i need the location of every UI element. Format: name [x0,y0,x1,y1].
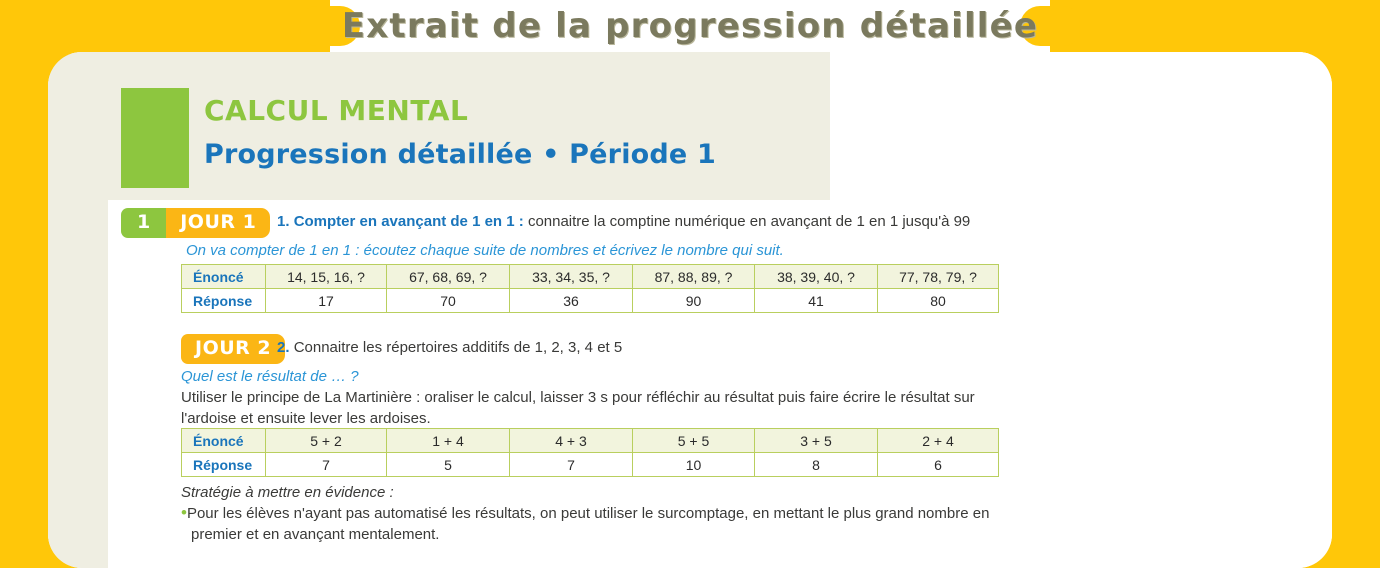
strategy-bullet-text: Pour les élèves n'ayant pas automatisé l… [187,505,989,543]
table-cell: 5 + 2 [266,429,387,453]
table-cell: 5 [387,453,510,477]
table-cell: 17 [266,289,387,313]
row-label-enonce: Énoncé [182,265,266,289]
lesson-1-table-wrap: Énoncé 14, 15, 16, ? 67, 68, 69, ? 33, 3… [181,264,999,313]
table-cell: 80 [878,289,999,313]
table-cell: 2 + 4 [878,429,999,453]
table-cell: 41 [755,289,878,313]
lesson-2-badges: JOUR 2 [181,334,285,364]
lesson-1-instruction: On va compter de 1 en 1 : écoutez chaque… [186,241,1186,261]
table-cell: 1 + 4 [387,429,510,453]
table-cell: 8 [755,453,878,477]
table-cell: 36 [510,289,633,313]
lesson-1-objective-number: 1. [277,213,290,230]
lesson-2-day-badge: JOUR 2 [181,334,285,364]
lesson-2-table-wrap: Énoncé 5 + 2 1 + 4 4 + 3 5 + 5 3 + 5 2 +… [181,428,999,477]
strategy-bullet-item: •Pour les élèves n'ayant pas automatisé … [181,502,993,545]
lesson-2-paragraph: Utiliser le principe de La Martinière : … [181,387,1013,429]
banner-title: Extrait de la progression détaillée [0,2,1380,50]
table-cell: 6 [878,453,999,477]
table-row: Réponse 7 5 7 10 8 6 [182,453,999,477]
lesson-1-table: Énoncé 14, 15, 16, ? 67, 68, 69, ? 33, 3… [181,264,999,313]
table-cell: 67, 68, 69, ? [387,265,510,289]
lesson-1-objective: 1. Compter en avançant de 1 en 1 : conna… [277,208,1237,233]
green-accent-block [121,88,189,188]
header-subtitle: Progression détaillée • Période 1 [204,139,716,170]
lesson-1-objective-rest: connaitre la comptine numérique en avanç… [528,213,970,230]
table-cell: 3 + 5 [755,429,878,453]
header-kicker: CALCUL MENTAL [204,94,468,127]
table-row: Énoncé 14, 15, 16, ? 67, 68, 69, ? 33, 3… [182,265,999,289]
table-cell: 10 [633,453,755,477]
page-root: Extrait de la progression détaillée CALC… [0,0,1380,568]
row-label-reponse: Réponse [182,289,266,313]
table-cell: 5 + 5 [633,429,755,453]
table-cell: 7 [266,453,387,477]
lesson-2-objective-number: 2. [277,339,290,356]
lesson-1-objective-strong: Compter en avançant de 1 en 1 : [294,213,524,230]
table-cell: 87, 88, 89, ? [633,265,755,289]
row-label-reponse: Réponse [182,453,266,477]
lesson-1-number-badge: 1 [121,208,166,238]
table-cell: 38, 39, 40, ? [755,265,878,289]
table-cell: 7 [510,453,633,477]
lesson-2-objective: 2. Connaitre les répertoires additifs de… [277,334,1257,359]
table-cell: 70 [387,289,510,313]
table-cell: 33, 34, 35, ? [510,265,633,289]
table-row: Réponse 17 70 36 90 41 80 [182,289,999,313]
table-cell: 4 + 3 [510,429,633,453]
table-cell: 90 [633,289,755,313]
table-cell: 77, 78, 79, ? [878,265,999,289]
strategy-title: Stratégie à mettre en évidence : [181,482,394,503]
table-row: Énoncé 5 + 2 1 + 4 4 + 3 5 + 5 3 + 5 2 +… [182,429,999,453]
lesson-1-day-badge: JOUR 1 [166,208,270,238]
lesson-2-table: Énoncé 5 + 2 1 + 4 4 + 3 5 + 5 3 + 5 2 +… [181,428,999,477]
lesson-2-objective-rest: Connaitre les répertoires additifs de 1,… [294,339,623,356]
row-label-enonce: Énoncé [182,429,266,453]
table-cell: 14, 15, 16, ? [266,265,387,289]
lesson-1-badges: 1JOUR 1 [121,208,270,238]
lesson-2-instruction: Quel est le résultat de … ? [181,367,1181,387]
